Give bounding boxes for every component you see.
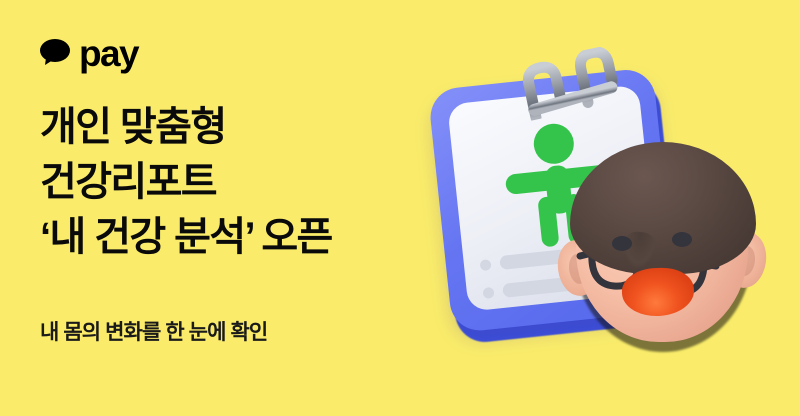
- headline-line-2: 건강리포트: [40, 155, 470, 210]
- subtitle: 내 몸의 변화를 한 눈에 확인: [40, 316, 267, 346]
- paper-bullet-dot: [480, 259, 492, 271]
- kakaopay-logo: pay: [40, 32, 138, 72]
- hero-illustration: [410, 40, 800, 380]
- headline: 개인 맞춤형 건강리포트 ‘내 건강 분석’ 오픈: [40, 100, 470, 265]
- logo-wordmark: pay: [79, 35, 138, 72]
- eye-left: [612, 236, 632, 251]
- hair: [570, 142, 756, 274]
- character-head: [560, 136, 766, 364]
- paper-bullet-dot: [482, 287, 494, 299]
- headline-line-3: ‘내 건강 분석’ 오픈: [40, 210, 470, 265]
- speech-bubble-icon: [40, 39, 70, 65]
- eye-right: [672, 232, 692, 247]
- headline-line-1: 개인 맞춤형: [40, 100, 470, 155]
- promo-banner: pay 개인 맞춤형 건강리포트 ‘내 건강 분석’ 오픈 내 몸의 변화를 한…: [0, 0, 800, 416]
